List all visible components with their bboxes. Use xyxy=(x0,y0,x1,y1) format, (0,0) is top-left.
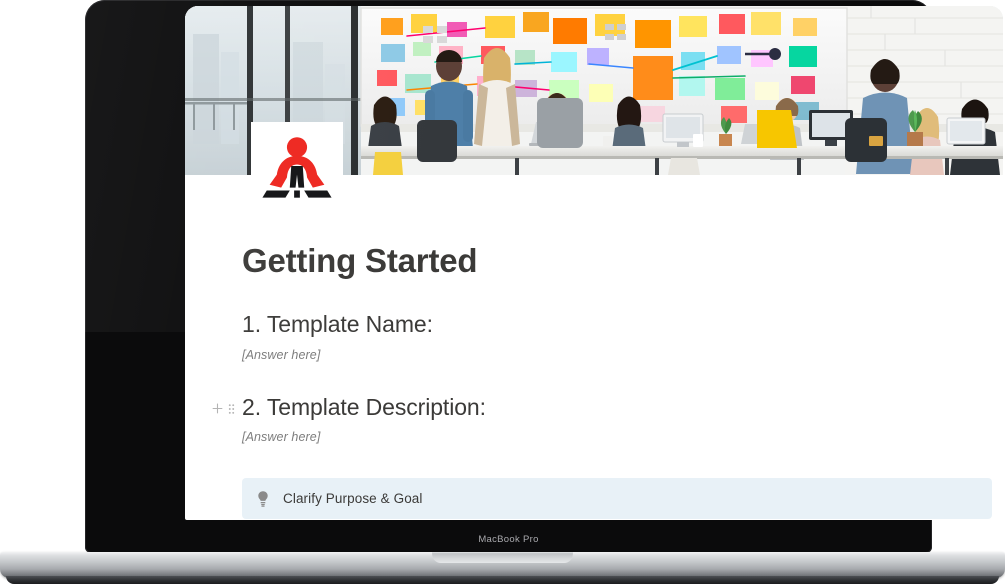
block-template-description: 2. Template Description: [Answer here] xyxy=(242,394,1003,445)
plus-icon[interactable] xyxy=(212,403,223,414)
block-gutter-controls xyxy=(212,403,235,415)
document-content: Getting Started 1. Template Name: [Answe… xyxy=(185,175,1003,519)
callout-text: Clarify Purpose & Goal xyxy=(283,491,423,506)
laptop-base-notch xyxy=(432,552,573,563)
answer-placeholder-template-description[interactable]: [Answer here] xyxy=(242,430,1003,444)
heading-template-description[interactable]: 2. Template Description: xyxy=(242,394,1003,422)
page-title[interactable]: Getting Started xyxy=(242,243,1003,279)
drag-handle-icon[interactable] xyxy=(228,403,235,415)
screen: Getting Started 1. Template Name: [Answe… xyxy=(185,6,1003,520)
answer-placeholder-template-name[interactable]: [Answer here] xyxy=(242,348,1003,362)
heading-template-name[interactable]: 1. Template Name: xyxy=(242,311,1003,339)
screenshot-stage: Getting Started 1. Template Name: [Answe… xyxy=(0,0,1005,588)
block-template-name: 1. Template Name: [Answer here] xyxy=(242,311,1003,362)
laptop-base-edge xyxy=(6,576,999,584)
page-body: Getting Started 1. Template Name: [Answe… xyxy=(185,175,1003,519)
callout-clarify-purpose-goal[interactable]: Clarify Purpose & Goal xyxy=(242,478,992,519)
page-icon[interactable] xyxy=(251,122,343,210)
laptop-lid: Getting Started 1. Template Name: [Answe… xyxy=(85,0,932,553)
lightbulb-icon xyxy=(256,490,270,507)
laptop-model-label: MacBook Pro xyxy=(85,534,932,545)
sprinter-starting-blocks-logo-icon xyxy=(261,130,333,202)
